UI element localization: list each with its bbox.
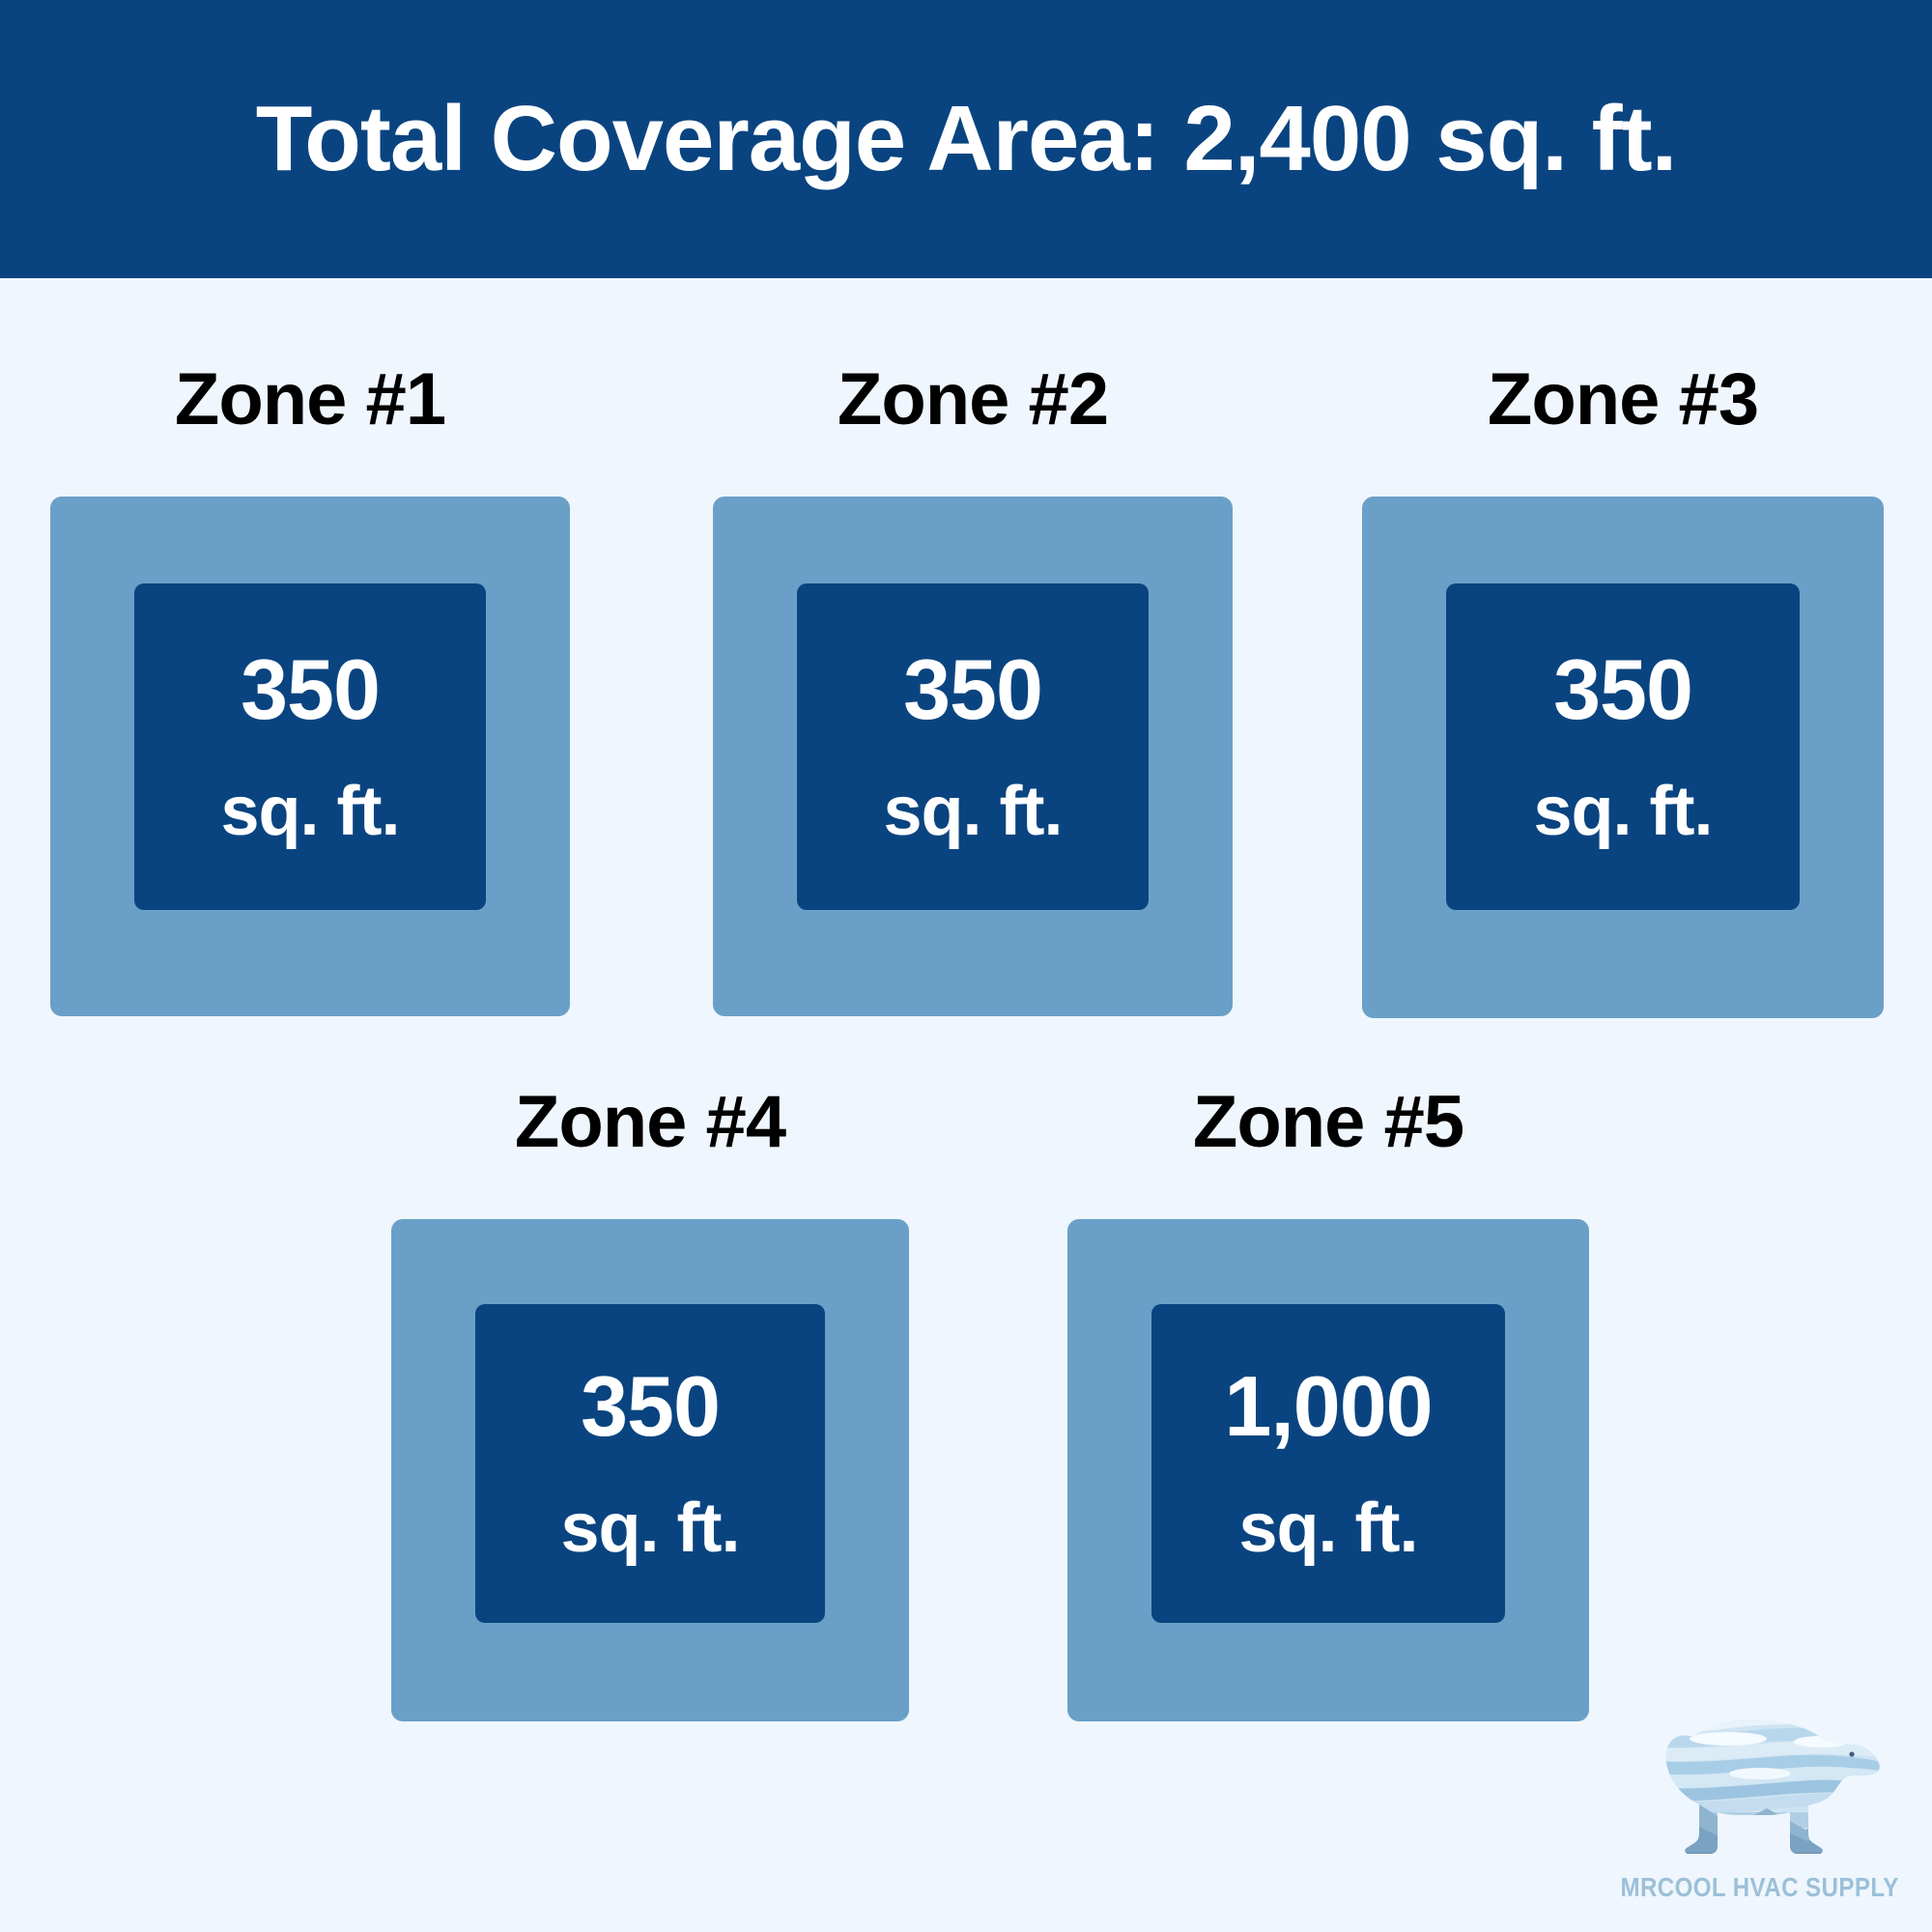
zone-inner-box-4: 350 sq. ft. bbox=[475, 1304, 825, 1623]
zone-unit-2: sq. ft. bbox=[884, 777, 1063, 846]
zone-unit-5: sq. ft. bbox=[1239, 1493, 1418, 1563]
zone-card-5[interactable]: Zone #5 1,000 sq. ft. bbox=[1067, 1086, 1589, 1721]
header-bar: Total Coverage Area: 2,400 sq. ft. bbox=[0, 0, 1932, 278]
zone-label-1: Zone #1 bbox=[175, 363, 445, 437]
zone-outer-box-2: 350 sq. ft. bbox=[713, 497, 1233, 1016]
zone-outer-box-3: 350 sq. ft. bbox=[1362, 497, 1884, 1018]
zone-value-4: 350 bbox=[581, 1364, 720, 1449]
zone-value-5: 1,000 bbox=[1224, 1364, 1432, 1449]
logo-text: MRCOOL HVAC SUPPLY bbox=[1621, 1872, 1899, 1903]
brand-logo: MRCOOL HVAC SUPPLY bbox=[1615, 1712, 1905, 1920]
zone-label-3: Zone #3 bbox=[1488, 363, 1758, 437]
polar-bear-icon bbox=[1632, 1712, 1889, 1866]
zone-unit-3: sq. ft. bbox=[1534, 777, 1713, 846]
zone-inner-box-2: 350 sq. ft. bbox=[797, 583, 1149, 910]
zone-unit-4: sq. ft. bbox=[561, 1493, 740, 1563]
page-title: Total Coverage Area: 2,400 sq. ft. bbox=[256, 91, 1677, 188]
zone-label-4: Zone #4 bbox=[515, 1086, 785, 1159]
zone-card-3[interactable]: Zone #3 350 sq. ft. bbox=[1362, 363, 1884, 1018]
zone-value-3: 350 bbox=[1553, 647, 1692, 732]
zone-value-2: 350 bbox=[903, 647, 1042, 732]
zone-inner-box-1: 350 sq. ft. bbox=[134, 583, 486, 910]
zone-inner-box-5: 1,000 sq. ft. bbox=[1151, 1304, 1505, 1623]
zone-card-1[interactable]: Zone #1 350 sq. ft. bbox=[50, 363, 570, 1016]
zone-label-2: Zone #2 bbox=[838, 363, 1108, 437]
zone-unit-1: sq. ft. bbox=[221, 777, 400, 846]
zone-outer-box-1: 350 sq. ft. bbox=[50, 497, 570, 1016]
zone-value-1: 350 bbox=[241, 647, 380, 732]
zone-inner-box-3: 350 sq. ft. bbox=[1446, 583, 1800, 910]
zone-outer-box-5: 1,000 sq. ft. bbox=[1067, 1219, 1589, 1721]
bear-eye-icon bbox=[1849, 1751, 1854, 1756]
zone-card-4[interactable]: Zone #4 350 sq. ft. bbox=[391, 1086, 909, 1721]
zones-container: Zone #1 350 sq. ft. Zone #2 350 sq. ft. … bbox=[0, 278, 1932, 1932]
zone-outer-box-4: 350 sq. ft. bbox=[391, 1219, 909, 1721]
zone-card-2[interactable]: Zone #2 350 sq. ft. bbox=[713, 363, 1233, 1016]
zone-label-5: Zone #5 bbox=[1193, 1086, 1463, 1159]
